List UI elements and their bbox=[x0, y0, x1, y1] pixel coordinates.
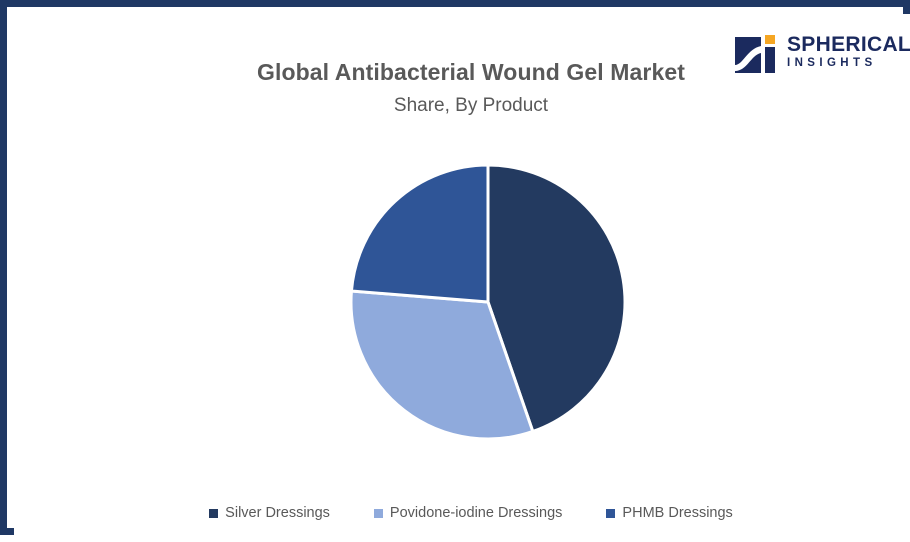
chart-subtitle: Share, By Product bbox=[25, 95, 910, 117]
chart-title: Global Antibacterial Wound Gel Market bbox=[25, 59, 910, 86]
pie-chart bbox=[332, 147, 632, 447]
legend-label: Silver Dressings bbox=[225, 505, 330, 521]
pie-slice-3[interactable] bbox=[351, 165, 488, 302]
legend-label: PHMB Dressings bbox=[622, 505, 732, 521]
chart-canvas: SPHERICAL INSIGHTS Global Antibacterial … bbox=[25, 25, 910, 542]
legend-swatch-icon bbox=[209, 509, 218, 518]
legend-swatch-icon bbox=[374, 509, 383, 518]
legend-item-1[interactable]: Silver Dressings bbox=[209, 505, 330, 521]
chart-inner-border: SPHERICAL INSIGHTS Global Antibacterial … bbox=[14, 14, 910, 535]
legend-item-2[interactable]: Povidone-iodine Dressings bbox=[374, 505, 563, 521]
chart-legend: Silver DressingsPovidone-iodine Dressing… bbox=[25, 505, 910, 521]
legend-swatch-icon bbox=[606, 509, 615, 518]
legend-label: Povidone-iodine Dressings bbox=[390, 505, 563, 521]
logo-word-spherical: SPHERICAL bbox=[787, 34, 910, 56]
pie-slice-group bbox=[351, 165, 625, 439]
legend-item-3[interactable]: PHMB Dressings bbox=[606, 505, 732, 521]
pie-chart-svg bbox=[332, 147, 632, 447]
chart-outer-border: SPHERICAL INSIGHTS Global Antibacterial … bbox=[0, 0, 910, 535]
